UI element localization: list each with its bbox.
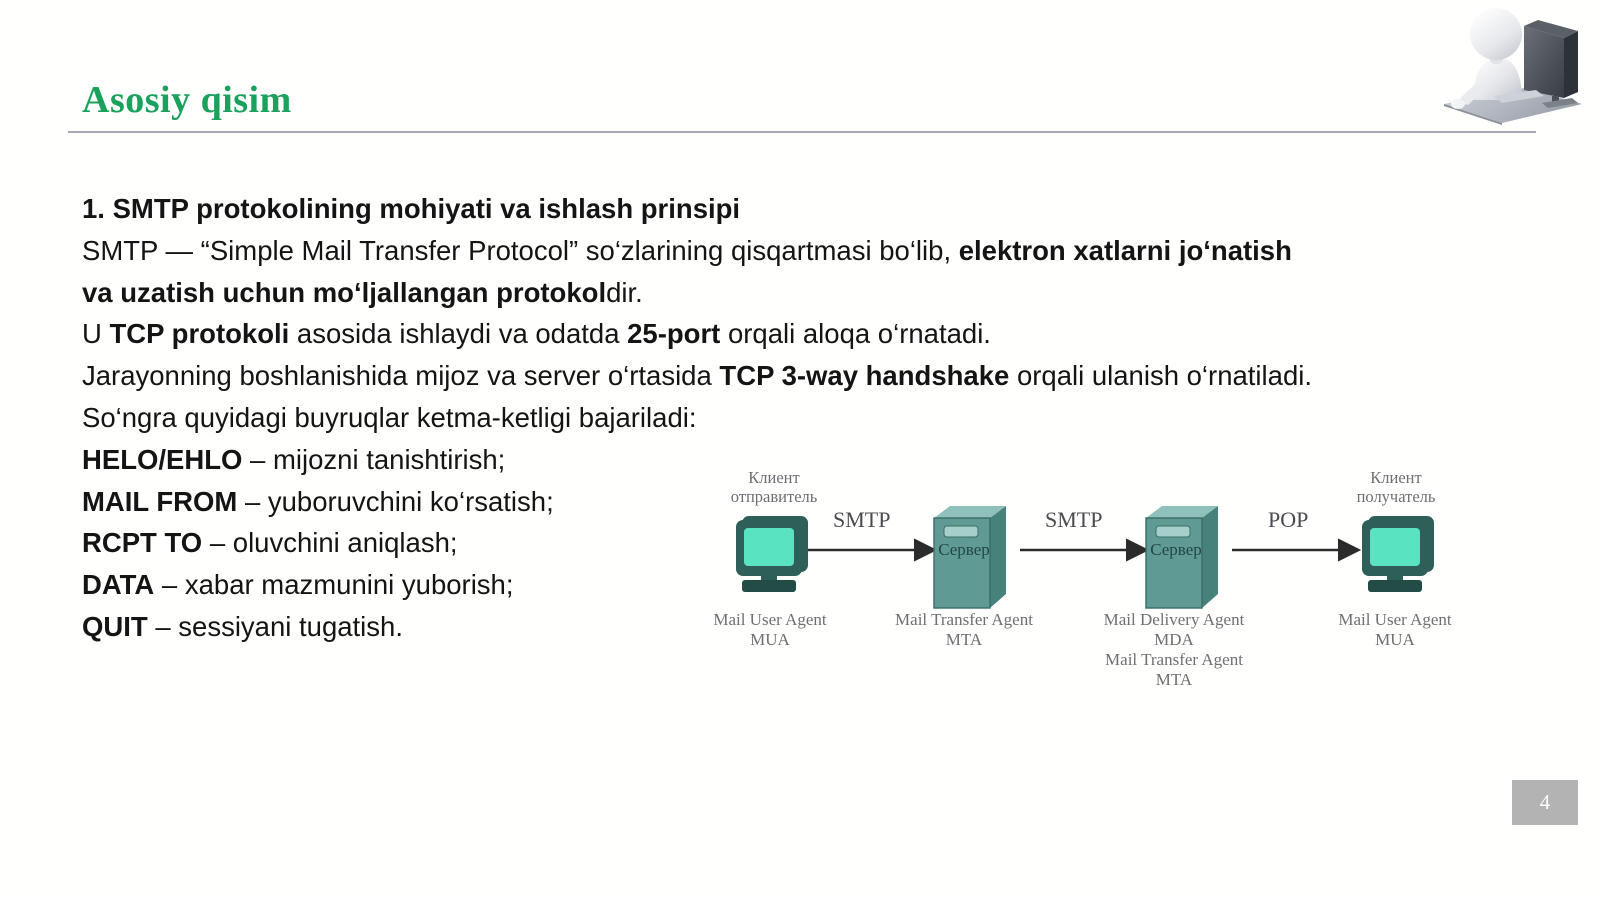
- caption-mda-line2: MDA: [1091, 630, 1257, 650]
- page-number-badge: 4: [1512, 780, 1578, 825]
- text-run: TCP protokoli: [110, 318, 290, 349]
- caption-mua-sender-line2: MUA: [687, 630, 853, 650]
- text-run: – mijozni tanishtirish;: [242, 444, 505, 475]
- caption-mta-line2: MTA: [881, 630, 1047, 650]
- text-run: U: [82, 318, 110, 349]
- smtp-flow-diagram: Сервер Сервер Клиент отправитель Клиент …: [690, 462, 1520, 692]
- text-run: So‘ngra quyidagi buyruqlar ketma-ketligi…: [82, 402, 697, 433]
- text-run: – yuboruvchini ko‘rsatish;: [237, 486, 553, 517]
- body-text-line-3: U TCP protokoli asosida ishlaydi va odat…: [82, 313, 1502, 355]
- text-run: asosida ishlaydi va odatda: [289, 318, 627, 349]
- text-run: orqali aloqa o‘rnatadi.: [720, 318, 991, 349]
- sender-client-label-line2: отправитель: [712, 487, 836, 506]
- text-run: dir.: [606, 277, 643, 308]
- title-divider: [68, 131, 1536, 133]
- text-run: va uzatish uchun mo‘ljallangan protokol: [82, 277, 606, 308]
- text-run: orqali ulanish o‘rnatiladi.: [1009, 360, 1312, 391]
- text-run: HELO/EHLO: [82, 444, 242, 475]
- caption-mua-receiver-line2: MUA: [1312, 630, 1478, 650]
- body-text-line-4: Jarayonning boshlanishida mijoz va serve…: [82, 355, 1502, 397]
- text-run: SMTP — “Simple Mail Transfer Protocol” s…: [82, 235, 959, 266]
- server-label-mda: Сервер: [1150, 540, 1202, 560]
- text-run: TCP 3-way handshake: [719, 360, 1009, 391]
- page-title: Asosiy qisim: [82, 78, 292, 122]
- body-text-line-1: SMTP — “Simple Mail Transfer Protocol” s…: [82, 230, 1502, 272]
- text-run: 25-port: [627, 318, 720, 349]
- caption-mda-line4: MTA: [1091, 670, 1257, 690]
- computer-monitor-icon-sender: [736, 516, 808, 592]
- edge-label-pop: POP: [1268, 507, 1308, 533]
- text-run: elektron xatlarni jo‘natish: [959, 235, 1292, 266]
- caption-mda-line3: Mail Transfer Agent: [1091, 650, 1257, 670]
- server-label-mta: Сервер: [938, 540, 990, 560]
- edge-label-smtp-2: SMTP: [1045, 507, 1102, 533]
- caption-mua-receiver-line1: Mail User Agent: [1312, 610, 1478, 630]
- text-run: RCPT TO: [82, 527, 202, 558]
- text-run: DATA: [82, 569, 154, 600]
- text-run: – oluvchini aniqlash;: [202, 527, 457, 558]
- receiver-client-label-line1: Клиент: [1334, 468, 1458, 487]
- text-run: – xabar mazmunini yuborish;: [154, 569, 513, 600]
- computer-monitor-icon-receiver: [1362, 516, 1434, 592]
- page-number-text: 4: [1540, 790, 1551, 815]
- person-at-computer-icon: [1432, 4, 1584, 126]
- text-run: – sessiyani tugatish.: [148, 611, 403, 642]
- body-text-line-2: va uzatish uchun mo‘ljallangan protokold…: [82, 272, 1502, 314]
- caption-mua-sender-line1: Mail User Agent: [687, 610, 853, 630]
- caption-mta-line1: Mail Transfer Agent: [881, 610, 1047, 630]
- caption-mda-line1: Mail Delivery Agent: [1091, 610, 1257, 630]
- sender-client-label-line1: Клиент: [712, 468, 836, 487]
- body-heading: 1. SMTP protokolining mohiyati va ishlas…: [82, 188, 1502, 230]
- slide-canvas: Asosiy qisim: [0, 0, 1600, 900]
- body-text-line-5: So‘ngra quyidagi buyruqlar ketma-ketligi…: [82, 397, 1502, 439]
- edge-label-smtp-1: SMTP: [833, 507, 890, 533]
- text-run: Jarayonning boshlanishida mijoz va serve…: [82, 360, 719, 391]
- text-run: MAIL FROM: [82, 486, 237, 517]
- receiver-client-label-line2: получатель: [1334, 487, 1458, 506]
- text-run: QUIT: [82, 611, 148, 642]
